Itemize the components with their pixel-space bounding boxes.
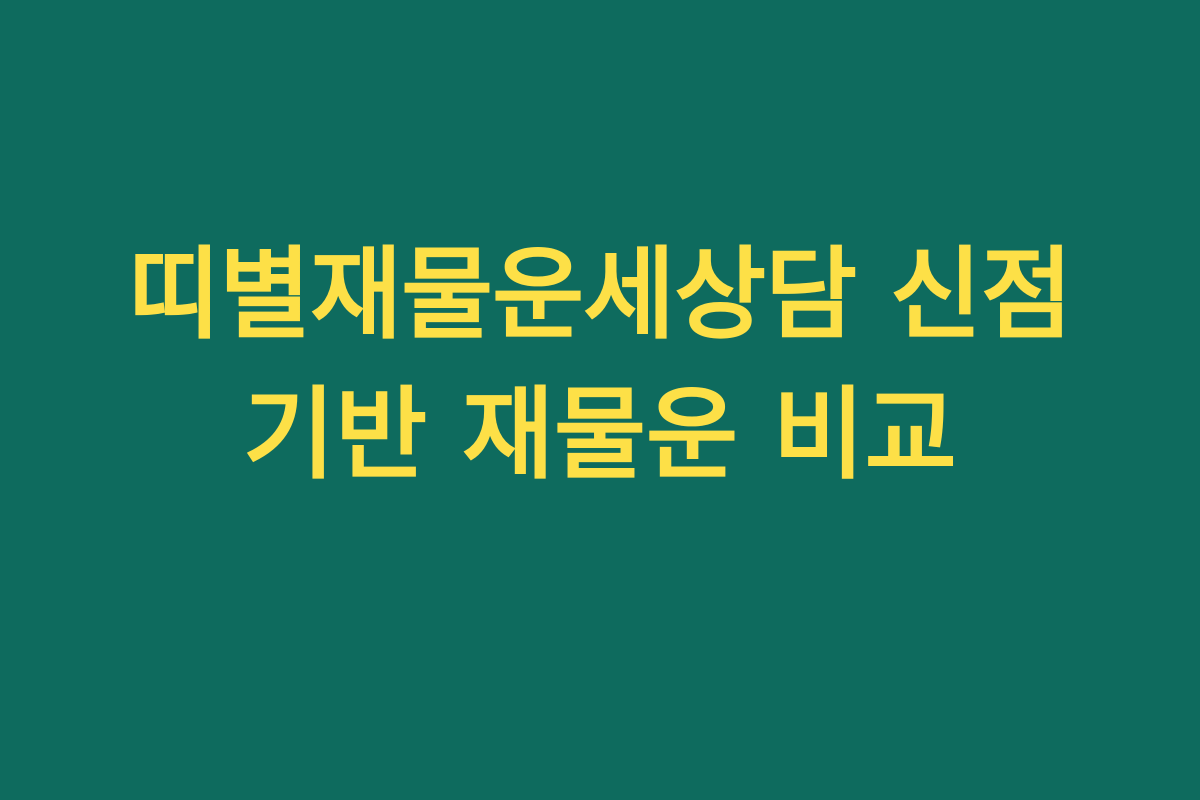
title-line-2: 기반 재물운 비교 — [0, 365, 1200, 505]
title-line-1: 띠별재물운세상담 신점 — [0, 225, 1200, 365]
title-banner: 띠별재물운세상담 신점 기반 재물운 비교 — [0, 0, 1200, 800]
page-title: 띠별재물운세상담 신점 기반 재물운 비교 — [0, 0, 1200, 800]
